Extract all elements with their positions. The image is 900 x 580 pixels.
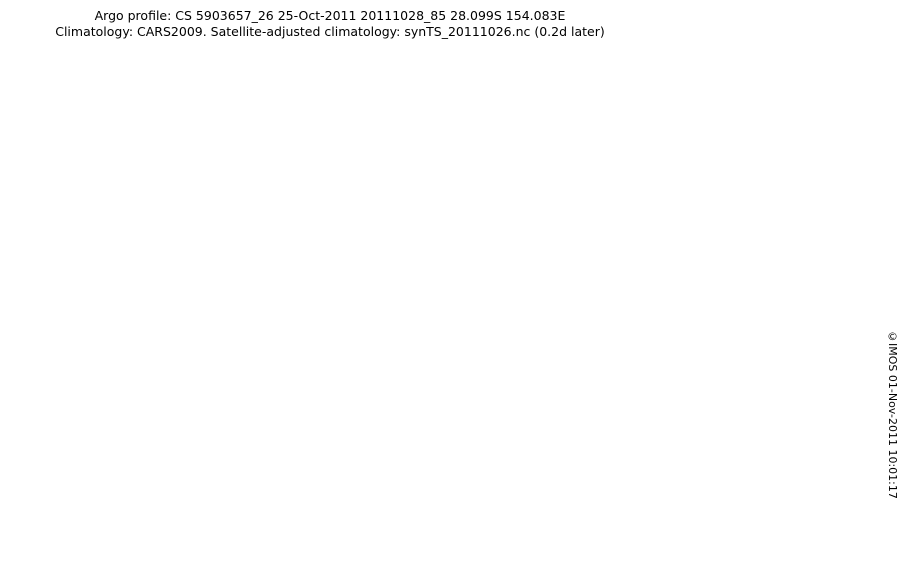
profile-plots <box>0 0 660 580</box>
map-plots <box>655 0 900 580</box>
imos-credit: ©IMOS 01-Nov-2011 10:01:17 <box>886 330 899 499</box>
